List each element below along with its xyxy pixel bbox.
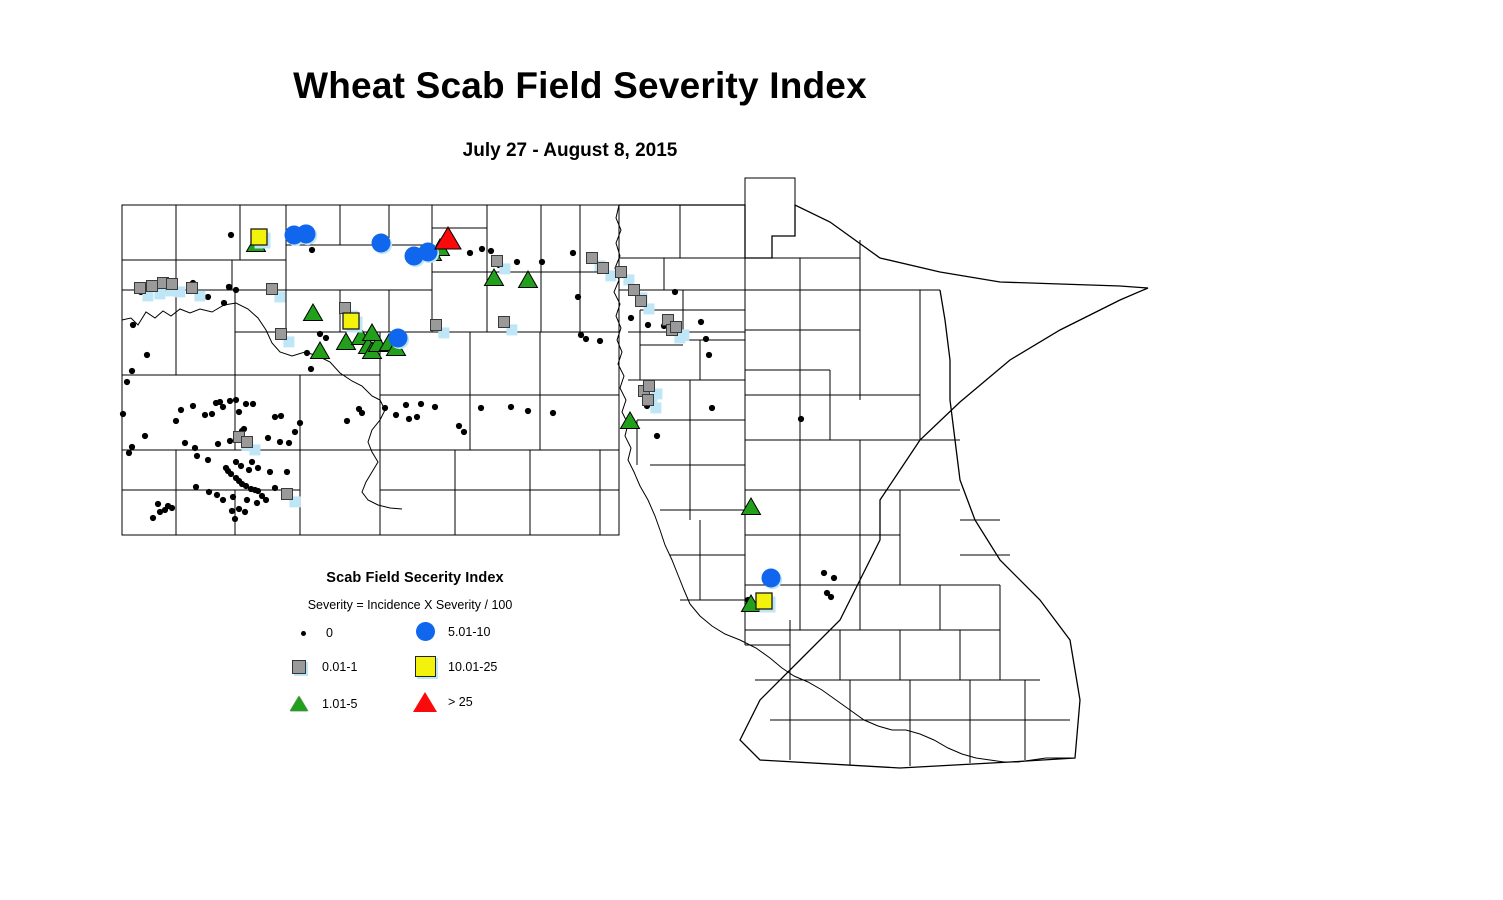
marker-low xyxy=(431,320,442,331)
marker-zero xyxy=(246,467,252,473)
legend-item-2[interactable]: 1.01-5 xyxy=(286,696,357,711)
marker-zero xyxy=(230,494,236,500)
marker-zero xyxy=(344,418,350,424)
mississippi-border xyxy=(690,604,1074,762)
marker-low xyxy=(499,317,510,328)
marker-zero xyxy=(209,411,215,417)
marker-zero xyxy=(220,404,226,410)
marker-zero xyxy=(226,284,232,290)
marker-zero xyxy=(129,444,135,450)
marker-zero xyxy=(698,319,704,325)
marker-zero xyxy=(173,418,179,424)
marker-low xyxy=(492,256,503,267)
marker-zero xyxy=(272,414,278,420)
marker-zero xyxy=(831,575,837,581)
marker-zero xyxy=(403,402,409,408)
marker-vhigh xyxy=(251,229,267,245)
marker-zero xyxy=(317,331,323,337)
marker-zero xyxy=(126,450,132,456)
marker-high xyxy=(762,569,781,588)
marker-high xyxy=(297,225,316,244)
marker-zero xyxy=(193,484,199,490)
marker-low xyxy=(147,281,158,292)
marker-zero xyxy=(703,336,709,342)
legend-panel: Scab Field Secerity Index Severity = Inc… xyxy=(286,570,536,718)
marker-zero xyxy=(254,500,260,506)
legend-label-5: > 25 xyxy=(448,695,473,709)
marker-low xyxy=(242,437,253,448)
map-canvas xyxy=(0,0,1503,900)
marker-zero xyxy=(214,492,220,498)
marker-zero xyxy=(130,322,136,328)
marker-zero xyxy=(178,407,184,413)
marker-low xyxy=(636,296,647,307)
legend-label-1: 0.01-1 xyxy=(322,660,357,674)
marker-mid xyxy=(742,498,761,515)
marker-low xyxy=(643,395,654,406)
marker-zero xyxy=(192,445,198,451)
marker-zero xyxy=(297,420,303,426)
marker-zero xyxy=(309,247,315,253)
marker-zero xyxy=(233,459,239,465)
marker-zero xyxy=(304,350,310,356)
marker-zero xyxy=(190,403,196,409)
legend-items: 0 0.01-1 1.01-5 5.01-10 10.01-25 > 25 xyxy=(286,626,536,718)
marker-zero xyxy=(539,259,545,265)
marker-zero xyxy=(278,413,284,419)
marker-zero xyxy=(263,497,269,503)
marker-vhigh xyxy=(756,593,772,609)
marker-low xyxy=(598,263,609,274)
marker-zero xyxy=(229,508,235,514)
marker-zero xyxy=(236,409,242,415)
marker-zero xyxy=(205,294,211,300)
marker-zero xyxy=(432,404,438,410)
marker-zero xyxy=(272,485,278,491)
marker-zero xyxy=(706,352,712,358)
legend-item-0[interactable]: 0 xyxy=(290,626,333,640)
marker-zero xyxy=(508,404,514,410)
marker-zero xyxy=(129,368,135,374)
marker-zero xyxy=(228,471,234,477)
marker-zero xyxy=(393,412,399,418)
legend-title: Scab Field Secerity Index xyxy=(294,570,536,586)
marker-vhigh xyxy=(343,313,359,329)
marker-low xyxy=(671,322,682,333)
marker-zero xyxy=(821,570,827,576)
marker-low xyxy=(135,283,146,294)
marker-low xyxy=(167,279,178,290)
marker-zero xyxy=(284,469,290,475)
legend-label-3: 5.01-10 xyxy=(448,625,490,639)
marker-zero xyxy=(242,509,248,515)
marker-zero xyxy=(798,416,804,422)
marker-zero xyxy=(221,300,227,306)
marker-zero xyxy=(323,335,329,341)
marker-zero xyxy=(165,503,171,509)
gray-square-icon xyxy=(286,660,312,674)
marker-low xyxy=(587,253,598,264)
marker-zero xyxy=(215,441,221,447)
marker-zero xyxy=(249,459,255,465)
marker-zero xyxy=(250,401,256,407)
marker-zero xyxy=(709,405,715,411)
marker-zero xyxy=(194,453,200,459)
marker-zero xyxy=(478,405,484,411)
marker-zero xyxy=(267,469,273,475)
yellow-square-icon xyxy=(412,656,438,677)
marker-zero xyxy=(514,259,520,265)
marker-zero xyxy=(236,506,242,512)
legend-item-5[interactable]: > 25 xyxy=(412,692,473,712)
map-page: Wheat Scab Field Severity Index July 27 … xyxy=(0,0,1503,900)
black-dot-icon xyxy=(290,631,316,636)
state-county-map xyxy=(0,0,1503,900)
marker-zero xyxy=(227,438,233,444)
marker-zero xyxy=(583,336,589,342)
marker-zero xyxy=(645,322,651,328)
green-triangle-icon xyxy=(286,696,312,711)
marker-zero xyxy=(292,429,298,435)
legend-formula: Severity = Incidence X Severity / 100 xyxy=(284,598,536,612)
marker-high xyxy=(372,234,391,253)
marker-zero xyxy=(228,232,234,238)
marker-zero xyxy=(150,515,156,521)
marker-zero xyxy=(654,433,660,439)
marker-zero xyxy=(233,397,239,403)
marker-low xyxy=(276,329,287,340)
marker-low xyxy=(282,489,293,500)
marker-low xyxy=(267,284,278,295)
legend-item-3[interactable]: 5.01-10 xyxy=(412,622,490,641)
legend-label-0: 0 xyxy=(326,626,333,640)
marker-zero xyxy=(570,250,576,256)
marker-zero xyxy=(479,246,485,252)
marker-zero xyxy=(124,379,130,385)
marker-zero xyxy=(233,287,239,293)
marker-zero xyxy=(277,439,283,445)
marker-zero xyxy=(255,465,261,471)
marker-zero xyxy=(265,435,271,441)
red-triangle-icon xyxy=(412,692,438,712)
marker-low xyxy=(340,303,351,314)
marker-zero xyxy=(232,516,238,522)
marker-zero xyxy=(155,501,161,507)
legend-item-1[interactable]: 0.01-1 xyxy=(286,660,357,674)
marker-zero xyxy=(359,410,365,416)
marker-low xyxy=(629,285,640,296)
marker-zero xyxy=(488,248,494,254)
legend-item-4[interactable]: 10.01-25 xyxy=(412,656,497,677)
marker-zero xyxy=(406,416,412,422)
marker-zero xyxy=(672,289,678,295)
marker-zero xyxy=(828,594,834,600)
marker-zero xyxy=(142,433,148,439)
marker-zero xyxy=(205,457,211,463)
marker-zero xyxy=(414,414,420,420)
minnesota-internal-counties xyxy=(619,205,1070,766)
marker-zero xyxy=(144,352,150,358)
marker-zero xyxy=(182,440,188,446)
marker-zero xyxy=(578,332,584,338)
marker-zero xyxy=(243,401,249,407)
blue-circle-icon xyxy=(412,622,438,641)
marker-zero xyxy=(628,315,634,321)
marker-zero xyxy=(238,463,244,469)
marker-zero xyxy=(202,412,208,418)
marker-zero xyxy=(418,401,424,407)
marker-zero xyxy=(286,440,292,446)
marker-zero xyxy=(244,497,250,503)
marker-zero xyxy=(461,429,467,435)
marker-zero xyxy=(550,410,556,416)
legend-label-2: 1.01-5 xyxy=(322,697,357,711)
marker-zero xyxy=(308,366,314,372)
marker-zero xyxy=(255,488,261,494)
legend-label-4: 10.01-25 xyxy=(448,660,497,674)
marker-zero xyxy=(120,411,126,417)
marker-high xyxy=(389,329,408,348)
marker-low xyxy=(616,267,627,278)
marker-low xyxy=(644,381,655,392)
marker-high xyxy=(419,243,438,262)
marker-low xyxy=(187,283,198,294)
marker-zero xyxy=(227,398,233,404)
marker-zero xyxy=(467,250,473,256)
marker-zero xyxy=(456,423,462,429)
marker-zero xyxy=(525,408,531,414)
marker-zero xyxy=(382,405,388,411)
marker-zero xyxy=(597,338,603,344)
marker-zero xyxy=(206,489,212,495)
marker-zero xyxy=(575,294,581,300)
marker-zero xyxy=(220,497,226,503)
